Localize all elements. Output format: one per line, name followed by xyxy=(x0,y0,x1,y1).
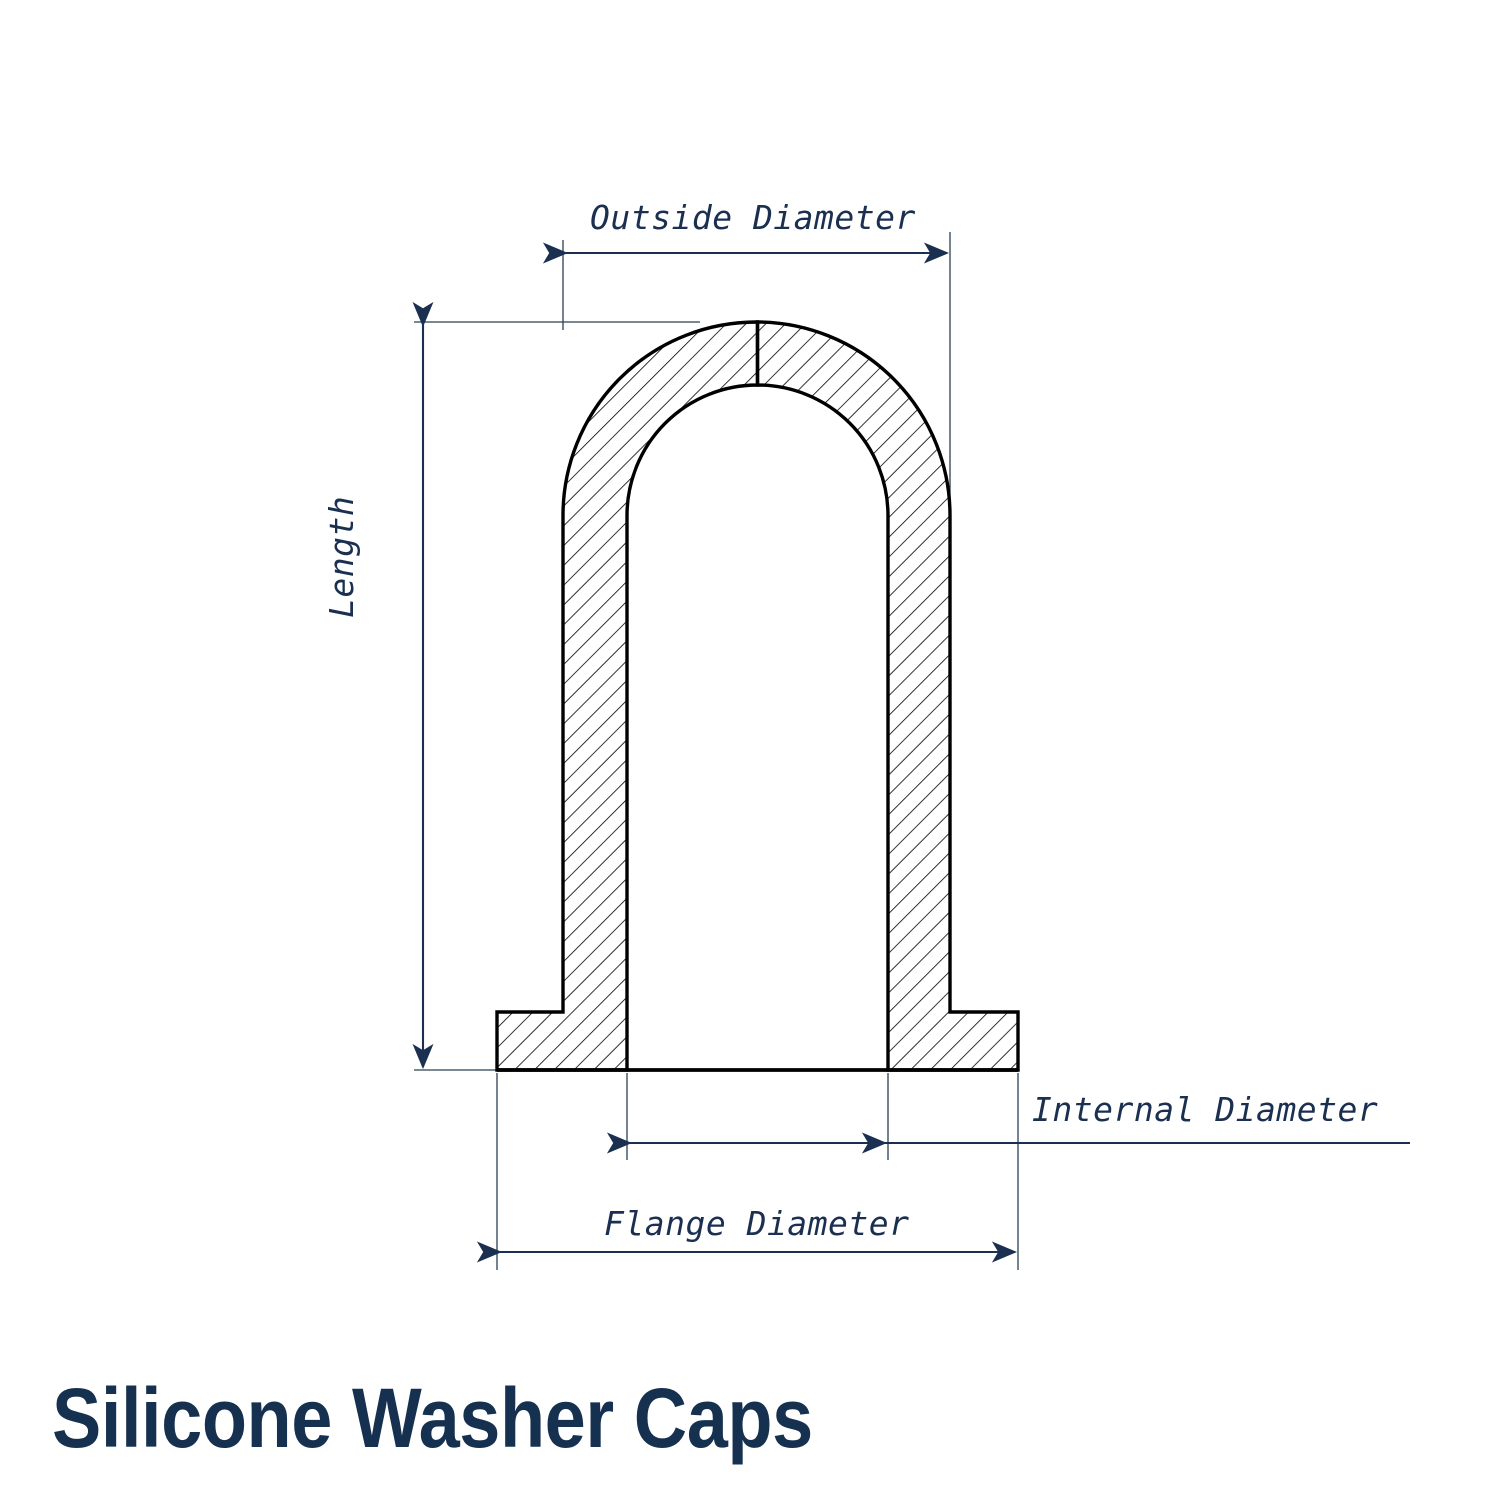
dimension-label-outside-diameter: Outside Diameter xyxy=(590,198,916,237)
part-cross-section xyxy=(497,322,1018,1070)
dimension-label-flange-diameter: Flange Diameter xyxy=(604,1204,910,1243)
dimension-label-internal-diameter: Internal Diameter xyxy=(1032,1090,1378,1129)
dimension-label-length: Length xyxy=(322,496,361,618)
cap-section-right xyxy=(758,322,1019,1070)
cap-section-left xyxy=(497,322,758,1070)
drawing-canvas: Outside Diameter Internal Diameter Flang… xyxy=(0,0,1500,1500)
page-title: Silicone Washer Caps xyxy=(52,1376,813,1460)
